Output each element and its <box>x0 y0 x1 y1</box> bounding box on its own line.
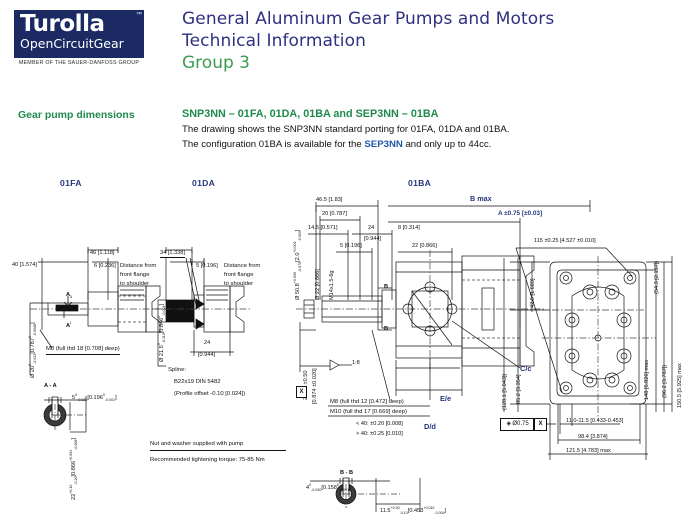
tol-less-40: < 40: ±0.20 [0.008] <box>356 421 403 428</box>
note-distance-line2-01da: front flange <box>224 271 253 279</box>
label-b-top: B <box>384 284 388 291</box>
label-b-max: B max <box>470 196 492 203</box>
tol-greater-40: > 40: ±0.25 [0.010] <box>356 431 403 438</box>
dim-01ba-dia50-8: Ø 50.8+0.039-0.075[2.0+0.001-0.003] <box>292 230 303 300</box>
dim-01ba-thread-m14: M14x1.5-6g <box>329 270 336 300</box>
note-nut-washer: Nut and washer supplied with pump <box>150 440 286 451</box>
datum-x-left: X <box>296 386 307 398</box>
label-taper-ratio: 1:8 <box>352 360 360 367</box>
note-distance-line2-01fa: front flange <box>120 271 149 279</box>
label-b-bottom: B <box>384 326 388 333</box>
dim-01da-34: 34 [1.338] <box>160 250 185 258</box>
dim-01fa-dia20: Ø 200-0.021[0.7870-0.0008] <box>27 322 38 378</box>
note-thread-m8: M8 (full thd 12 [0.472] deep) <box>330 398 404 406</box>
note-distance-line3-01fa: to shoulder <box>120 280 149 288</box>
note-distance-line1-01da: Distance from <box>224 262 260 270</box>
dim-01da-24-inch: [0.944] <box>198 352 215 359</box>
note-distance-line3-01da: to shoulder <box>224 280 253 288</box>
dim-aa-height: 22+0.10-0.20[0.866+0.004-0.008] <box>68 438 79 500</box>
dim-end-148: 148 [5.826] max <box>644 360 651 400</box>
dim-01fa-6: 6 [0.236] <box>94 263 116 270</box>
label-a1: A1 <box>66 292 72 301</box>
dim-01da-5: 5 [0.196] <box>196 263 218 270</box>
note-thread-m10: M10 (full thd 17 [0.669] deep) <box>330 408 407 416</box>
dim-end-128-1: (128.1 [5.043]) <box>502 374 509 410</box>
dim-01ba-24-inch: [0.944] <box>364 236 381 243</box>
dim-01ba-24: 24 <box>368 225 374 232</box>
page-root: Turolla ™ OpenCircuitGear MEMBER OF THE … <box>0 0 684 528</box>
label-c-c: C/c <box>520 366 532 373</box>
dim-01ba-46-5: 46.5 [1.83] <box>316 197 342 204</box>
dim-end-54-3: (54.3 [2.137]) <box>654 261 661 294</box>
label-e-e: E/e <box>440 396 451 403</box>
note-spline-standard: B22x19 DIN 5482 <box>174 378 221 386</box>
label-section-bb: B - B <box>340 470 353 477</box>
drawing-01ba-side <box>296 200 590 416</box>
dim-01ba-5: 5 [0.196] <box>340 243 362 250</box>
dim-end-96-2: (96.2 [3.787]) <box>662 365 669 398</box>
dim-01ba-8: 8 [0.314] <box>398 225 420 232</box>
dim-end-98-4: 98.4 [3.874] <box>578 434 608 441</box>
note-spline-title: Spline: <box>168 366 186 374</box>
dim-01ba-14-5: 14.5 [0.571] <box>308 225 338 232</box>
label-a-prime: A/ <box>66 320 71 329</box>
label-section-aa: A - A <box>44 383 57 390</box>
dim-end-42-9: 42.9 [1.689] <box>530 278 537 308</box>
dim-end-85-2: 85.2 [3.354] <box>516 374 523 404</box>
dim-01ba-22-22-inch: [0.874 ±0.020] <box>312 368 319 404</box>
dim-01fa-40: 40 [1.574] <box>12 262 37 269</box>
note-torque: Recommended tightening torque: 75-85 Nm <box>150 456 265 464</box>
dim-01fa-46: 46 [1.118] <box>90 250 114 257</box>
label-a1-subscript: 1 <box>70 295 72 299</box>
dim-01da-dia215: Ø 21.50-0.110[0.8460-0.004] <box>156 304 167 362</box>
label-d-d: D/d <box>424 424 436 431</box>
dim-end-150-5: 150.5 [5.925] max <box>677 363 684 408</box>
note-spline-offset: (Profile offset -0.10 [0.024]) <box>174 390 245 398</box>
note-distance-line1-01fa: Distance from <box>120 262 156 270</box>
dim-01ba-22: 22 [0.866] <box>412 243 437 250</box>
dim-01ba-20: 20 [0.787] <box>322 211 347 218</box>
dim-end-115: 115 ±0.25 [4.527 ±0.010] <box>534 238 596 245</box>
dim-bb-width: 40-0.030[0.1580-0.001] <box>306 482 351 493</box>
dim-bb-height: 11.5+0.30-0.10[0.453+0.010-0.004] <box>380 505 446 516</box>
flatness-callout: ◈Ø0.75 <box>500 418 534 431</box>
label-a-tolerance: A ±0.75 [±0.03] <box>498 211 542 218</box>
dim-01da-24: 24 <box>204 340 210 347</box>
dim-end-121-5: 121.5 [4.783] max <box>566 448 611 455</box>
datum-x-end: X <box>534 418 547 431</box>
dim-01ba-dia22: Ø 22 [0.866] <box>315 269 322 300</box>
note-m8-thread-01fa: M8 (full thd 18 [0.708] deep) <box>46 345 120 355</box>
dim-end-11-0-11-5: 11.0-11.5 [0.433-0.453] <box>566 418 623 425</box>
label-a-prime-mark: / <box>70 321 71 325</box>
dim-aa-width: 50-0.030[0.1960-0.001] <box>72 392 117 403</box>
